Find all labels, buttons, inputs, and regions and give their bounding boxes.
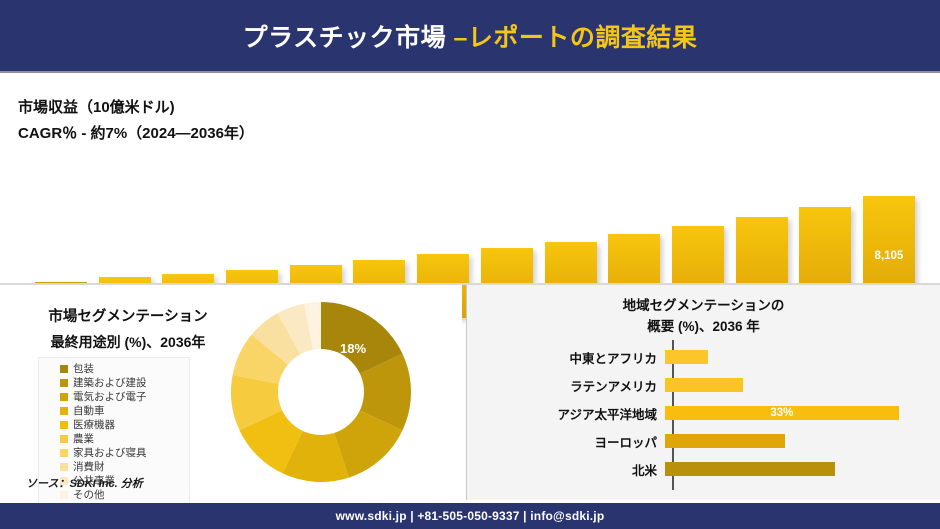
revenue-bar-value: 8,105 (863, 250, 915, 262)
legend-item: 包装 (42, 362, 186, 376)
legend-item: 電気および電子 (42, 390, 186, 404)
revenue-heading-group: 市場収益（10億米ドル) CAGR％ - 約7%（2024―2036年） (18, 95, 254, 147)
legend-item-label: 包装 (73, 362, 94, 376)
legend-item-label: 家具および寝具 (73, 446, 147, 460)
market-segmentation-section: 市場セグメンテーション 最終用途別 (%)、2036年 包装建築および建設電気お… (0, 285, 462, 500)
legend-swatch-icon (60, 365, 68, 373)
regional-bar (665, 462, 835, 476)
source-note: ソース：SDKI Inc. 分析 (26, 475, 143, 491)
segmentation-title-line1: 市場セグメンテーション (18, 305, 238, 330)
page-header: プラスチック市場 –レポートの調査結果 (0, 0, 940, 73)
legend-item: 医療機器 (42, 418, 186, 432)
regional-bar-label: ラテンアメリカ (467, 376, 665, 395)
regional-bar-label: 北米 (467, 460, 665, 479)
segmentation-title-line2: 最終用途別 (%)、2036年 (18, 330, 238, 355)
legend-swatch-icon (60, 435, 68, 443)
donut-highlight-label: 18% (340, 341, 366, 356)
legend-item: 自動車 (42, 404, 186, 418)
segmentation-donut-chart: 18% (228, 299, 414, 485)
legend-item-label: 消費財 (73, 460, 105, 474)
legend-item-label: 医療機器 (73, 418, 115, 432)
legend-swatch-icon (60, 407, 68, 415)
market-revenue-section: 市場収益（10億米ドル) CAGR％ - 約7%（2024―2036年） 5,0… (0, 73, 940, 280)
page-title-accent: –レポートの調査結果 (454, 24, 698, 52)
legend-swatch-icon (60, 449, 68, 457)
regional-bar-row: 中東とアフリカ (467, 346, 940, 368)
legend-item-label: 建築および建設 (73, 376, 147, 390)
legend-swatch-icon (60, 393, 68, 401)
donut-svg (228, 299, 414, 485)
regional-bar-row: 北米 (467, 458, 940, 480)
regional-bar-label: アジア太平洋地域 (467, 404, 665, 423)
regional-bar-value: 33% (665, 406, 899, 420)
regional-bar-label: ヨーロッパ (467, 432, 665, 451)
legend-item-label: 農業 (73, 432, 94, 446)
regional-title-line1: 地域セグメンテーションの (467, 295, 940, 316)
donut-hole (278, 349, 364, 435)
regional-segmentation-section: 地域セグメンテーションの 概要 (%)、2036 年 中東とアフリカラテンアメリ… (466, 285, 940, 500)
page-footer: www.sdki.jp | +81-505-050-9337 | info@sd… (0, 503, 940, 529)
regional-title: 地域セグメンテーションの 概要 (%)、2036 年 (467, 295, 940, 337)
segmentation-title: 市場セグメンテーション 最終用途別 (%)、2036年 (18, 305, 238, 355)
legend-item: 消費財 (42, 460, 186, 474)
revenue-heading-line1: 市場収益（10億米ドル) (18, 95, 254, 121)
page-title: プラスチック市場 –レポートの調査結果 (243, 18, 698, 54)
legend-swatch-icon (60, 463, 68, 471)
legend-item: 建築および建設 (42, 376, 186, 390)
regional-bar-label: 中東とアフリカ (467, 348, 665, 367)
regional-bar (665, 378, 743, 392)
legend-item: 農業 (42, 432, 186, 446)
legend-swatch-icon (60, 421, 68, 429)
regional-bar-row: ラテンアメリカ (467, 374, 940, 396)
legend-swatch-icon (60, 379, 68, 387)
regional-bar (665, 350, 708, 364)
regional-bar-row: アジア太平洋地域33% (467, 402, 940, 424)
revenue-heading-line2: CAGR％ - 約7%（2024―2036年） (18, 121, 254, 147)
legend-item-label: 電気および電子 (73, 390, 147, 404)
regional-title-line2: 概要 (%)、2036 年 (467, 316, 940, 337)
legend-swatch-icon (60, 491, 68, 499)
legend-item-label: 自動車 (73, 404, 105, 418)
regional-bar: 33% (665, 406, 899, 420)
regional-bar-row: ヨーロッパ (467, 430, 940, 452)
regional-bar (665, 434, 785, 448)
legend-item: 家具および寝具 (42, 446, 186, 460)
regional-bar-chart: 中東とアフリカラテンアメリカアジア太平洋地域33%ヨーロッパ北米 (467, 340, 940, 490)
footer-contact: www.sdki.jp | +81-505-050-9337 | info@sd… (336, 509, 605, 523)
page-title-primary: プラスチック市場 (243, 24, 454, 52)
